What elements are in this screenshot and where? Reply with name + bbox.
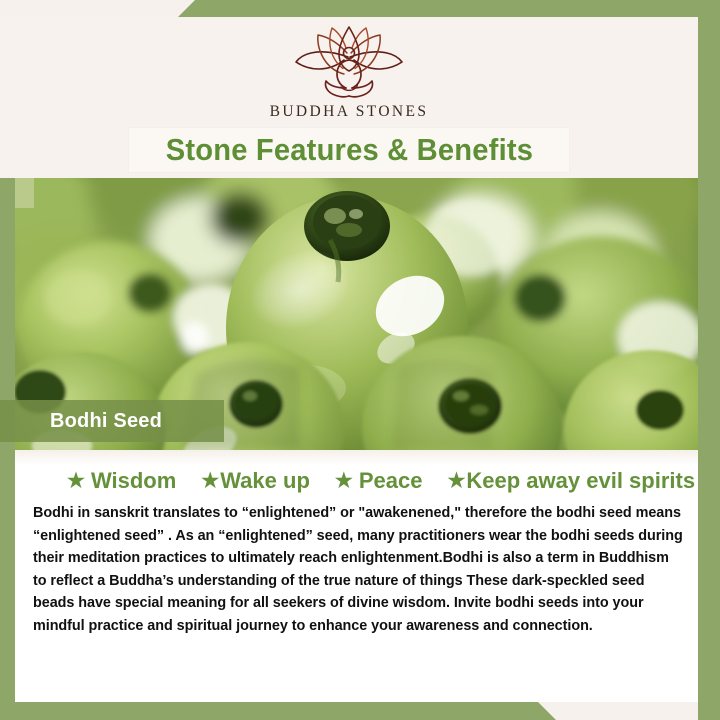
panel-top-fade [15,450,698,466]
infographic-page: BUDDHA STONES Stone Features & Benefits [0,0,720,720]
top-green-band [0,0,720,17]
title-plate: Stone Features & Benefits [129,128,569,172]
benefit-item-keep-away-evil-spirits: ★ Keep away evil spirits [447,468,695,494]
brand-logo: BUDDHA STONES [270,25,429,121]
benefits-row: ★ Wisdom ★ Wake up ★ Peace ★ Keep away e… [15,468,698,494]
benefit-label: Peace [359,468,423,494]
photo-caption-badge: Bodhi Seed [0,400,224,442]
photo-caption-text: Bodhi Seed [50,410,162,433]
page-title: Stone Features & Benefits [165,132,532,168]
benefit-label: Wake up [220,468,310,494]
bottom-green-band [0,702,720,720]
lotus-meditation-icon [289,25,409,99]
benefit-item-wake-up: ★ Wake up [201,468,310,494]
star-icon: ★ [201,471,219,491]
benefit-item-peace: ★ Peace [335,468,423,494]
content-panel: ★ Wisdom ★ Wake up ★ Peace ★ Keep away e… [15,450,698,702]
header: BUDDHA STONES Stone Features & Benefits [0,17,698,178]
right-green-band [698,0,720,720]
star-icon: ★ [67,471,85,491]
benefit-label: Wisdom [91,468,176,494]
brand-wordmark: BUDDHA STONES [270,103,429,121]
star-icon: ★ [447,471,465,491]
left-green-band [0,178,15,720]
benefit-item-wisdom: ★ Wisdom [67,468,176,494]
description-block: Bodhi in sanskrit translates to “enlight… [33,502,685,638]
benefit-label: Keep away evil spirits [466,468,695,494]
star-icon: ★ [335,471,353,491]
description-paragraph: Bodhi in sanskrit translates to “enlight… [33,502,685,638]
